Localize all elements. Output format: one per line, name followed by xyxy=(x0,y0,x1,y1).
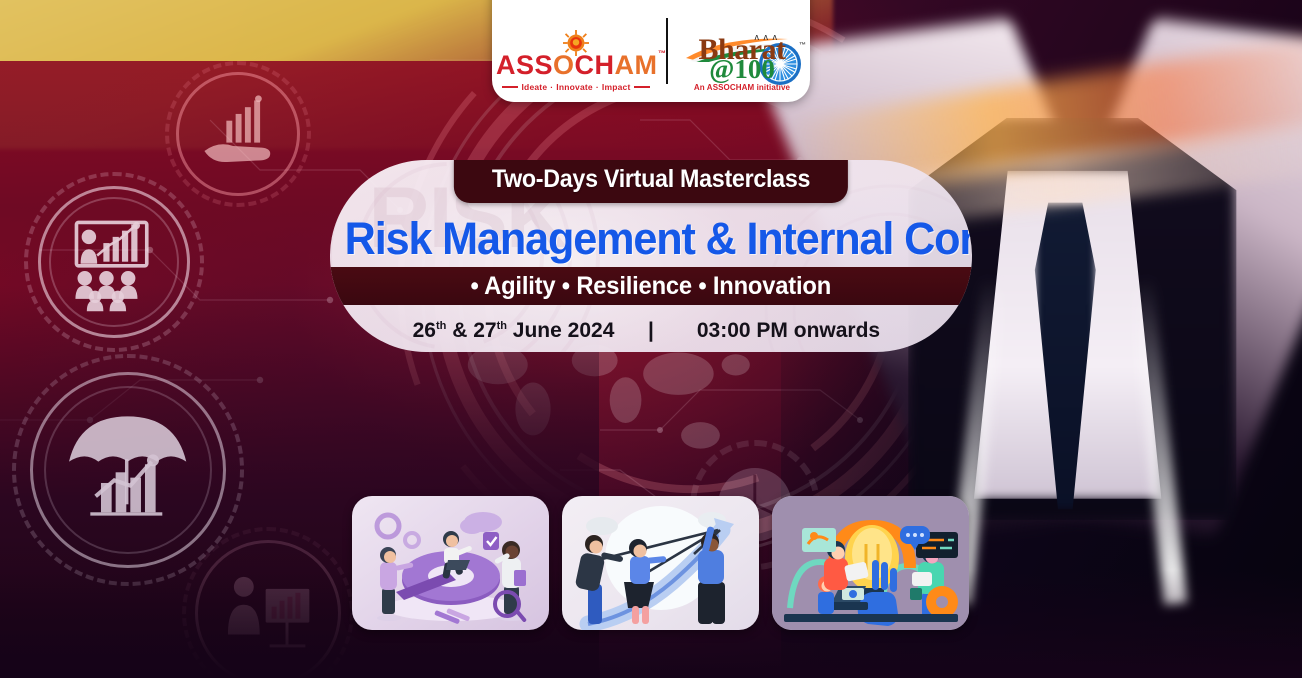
bharat-trademark: ™ xyxy=(799,42,806,49)
at-symbol: @ xyxy=(709,54,734,84)
event-date-ord1: th xyxy=(436,320,446,332)
assocham-logo: ASSOCHAM™ Ideate · Innovate · Impact xyxy=(496,30,656,96)
tagline-ideate: Ideate xyxy=(521,82,547,92)
assocham-word-part2: O xyxy=(553,50,575,80)
event-details-panel: RISK Two-Days Virtual Masterclass Risk M… xyxy=(330,160,972,352)
resilience-illustration xyxy=(562,496,759,630)
event-date: 26th & 27th June 2024 xyxy=(386,319,641,343)
event-date-rest: June 2024 xyxy=(507,319,614,342)
birds-icon: ʌ ʌ ʌ xyxy=(754,32,778,42)
event-title-text: Risk Management & Internal Control xyxy=(345,213,972,265)
agility-illustration xyxy=(352,496,549,630)
masterclass-badge: Two-Days Virtual Masterclass xyxy=(454,160,848,203)
assocham-tagline: Ideate · Innovate · Impact xyxy=(496,82,656,92)
assocham-word-part3: CH xyxy=(575,50,615,80)
assocham-word-part4: AM xyxy=(615,50,658,80)
event-themes-text: • Agility • Resilience • Innovation xyxy=(471,272,832,301)
assocham-trademark: ™ xyxy=(658,50,667,58)
bharat-at-100-logo: ʌ ʌ ʌ ™ Bharat xyxy=(678,36,806,96)
event-meta-separator: | xyxy=(641,319,661,343)
assocham-word-part1: ASS xyxy=(496,50,553,80)
bharat-at-100: @100 xyxy=(678,57,806,81)
tagline-innovate: Innovate xyxy=(556,82,593,92)
event-date-day2: 27 xyxy=(473,319,496,342)
event-date-amp: & xyxy=(446,319,473,342)
event-meta: 26th & 27th June 2024 | 03:00 PM onwards xyxy=(330,310,972,352)
tagline-dot-1: · xyxy=(550,82,553,92)
tagline-rule-left xyxy=(502,86,518,88)
umbrella-growth-icon xyxy=(30,372,226,568)
event-title: Risk Management & Internal Control xyxy=(330,213,972,265)
innovation-illustration xyxy=(772,496,969,630)
tagline-rule-right xyxy=(634,86,650,88)
illustration-cards xyxy=(352,496,970,630)
assocham-wordmark: ASSOCHAM™ xyxy=(496,52,658,79)
event-date-ord2: th xyxy=(497,320,507,332)
masterclass-badge-label: Two-Days Virtual Masterclass xyxy=(492,165,810,194)
event-themes-bar: • Agility • Resilience • Innovation xyxy=(330,267,972,305)
hundred-text: 100 xyxy=(734,54,775,84)
presentation-audience-icon xyxy=(38,186,190,338)
event-time: 03:00 PM onwards xyxy=(661,319,916,343)
hand-bar-chart-icon xyxy=(176,72,300,196)
tagline-impact: Impact xyxy=(602,82,631,92)
logo-container: ASSOCHAM™ Ideate · Innovate · Impact ʌ ʌ… xyxy=(492,0,810,102)
event-date-day1: 26 xyxy=(413,319,436,342)
tagline-dot-2: · xyxy=(596,82,599,92)
event-banner: ASSOCHAM™ Ideate · Innovate · Impact ʌ ʌ… xyxy=(0,0,1302,678)
